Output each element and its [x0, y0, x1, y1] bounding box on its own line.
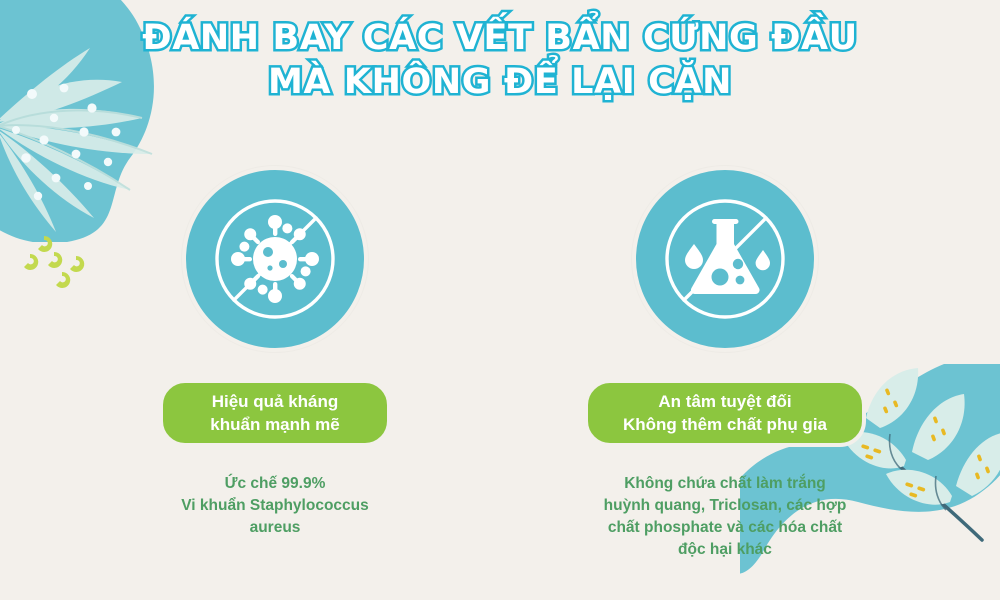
headline-line-2: MÀ KHÔNG ĐỂ LẠI CẶN	[0, 60, 1000, 104]
no-chemical-flask-icon	[658, 192, 792, 326]
feature-icon-badge	[182, 166, 368, 352]
feature-pill-label: Hiệu quả kháng khuẩn mạnh mẽ	[159, 379, 391, 447]
infographic-canvas: ĐÁNH BAY CÁC VẾT BẨN CỨNG ĐẦU MÀ KHÔNG Đ…	[0, 0, 1000, 600]
headline: ĐÁNH BAY CÁC VẾT BẨN CỨNG ĐẦU MÀ KHÔNG Đ…	[0, 16, 1000, 104]
droplet-left	[685, 244, 703, 269]
headline-line-1: ĐÁNH BAY CÁC VẾT BẨN CỨNG ĐẦU	[0, 16, 1000, 60]
feature-column-no-additives: An tâm tuyệt đối Không thêm chất phụ gia…	[565, 166, 885, 561]
feature-column-antibacterial: Hiệu quả kháng khuẩn mạnh mẽ Ức chế 99.9…	[115, 166, 435, 561]
feature-icon-badge	[632, 166, 818, 352]
feature-columns: Hiệu quả kháng khuẩn mạnh mẽ Ức chế 99.9…	[0, 166, 1000, 561]
feature-description: Không chứa chất làm trắng huỳnh quang, T…	[604, 473, 847, 561]
feature-description: Ức chế 99.9% Vi khuẩn Staphylococcus aur…	[181, 473, 369, 539]
droplet-right	[756, 250, 770, 270]
no-germ-icon	[208, 192, 342, 326]
feature-pill-label: An tâm tuyệt đối Không thêm chất phụ gia	[584, 379, 866, 447]
